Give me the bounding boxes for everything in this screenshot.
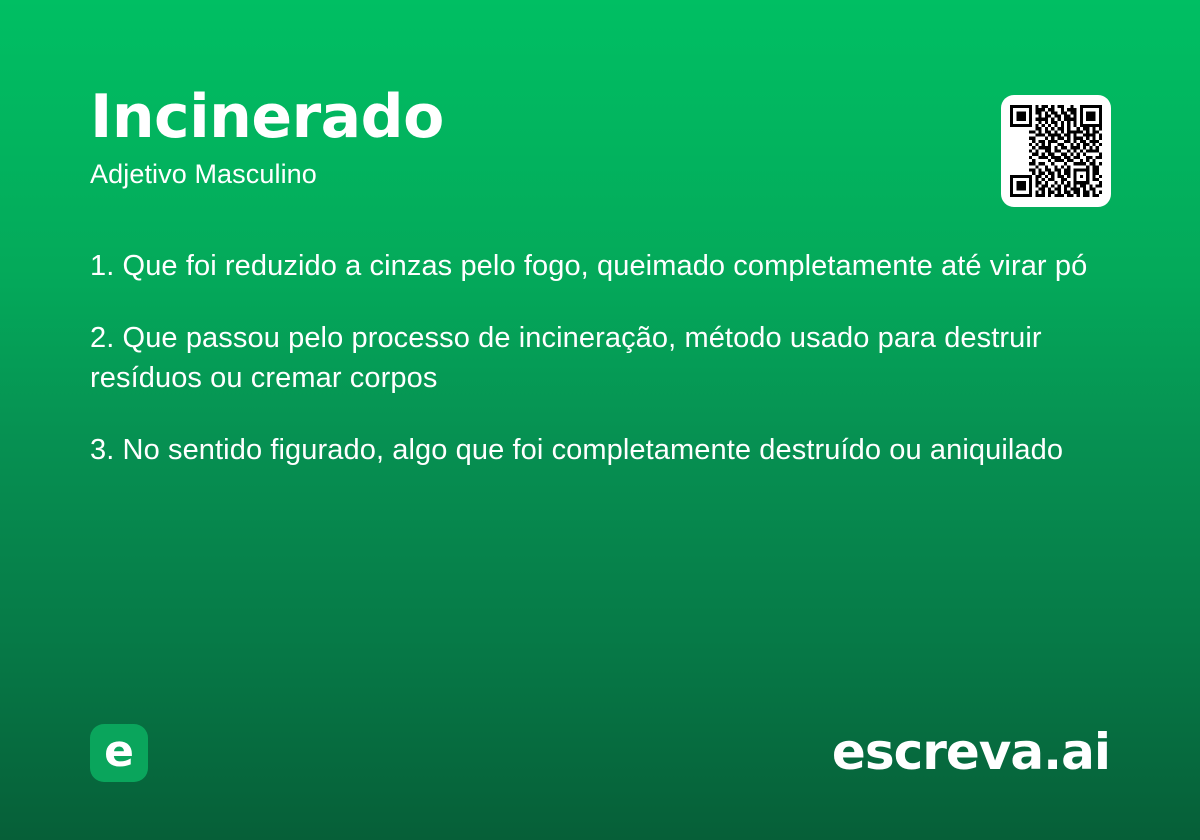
grammar-class-label: Adjetivo Masculino (90, 158, 1110, 190)
brand-logo-letter: e (104, 730, 134, 774)
page-title: Incinerado (90, 86, 1110, 150)
qr-code-icon (1010, 104, 1102, 198)
brand-wordmark: escreva.ai (832, 722, 1110, 782)
definition-item: 3. No sentido figurado, algo que foi com… (90, 430, 1102, 470)
definition-item: 2. Que passou pelo processo de incineraç… (90, 318, 1102, 398)
brand-logo: e (90, 724, 148, 782)
qr-code[interactable] (1001, 95, 1111, 207)
definition-list: 1. Que foi reduzido a cinzas pelo fogo, … (90, 246, 1102, 470)
card-header: Incinerado Adjetivo Masculino (90, 86, 1110, 190)
definition-item: 1. Que foi reduzido a cinzas pelo fogo, … (90, 246, 1102, 286)
dictionary-definition-card: Incinerado Adjetivo Masculino (0, 0, 1200, 840)
